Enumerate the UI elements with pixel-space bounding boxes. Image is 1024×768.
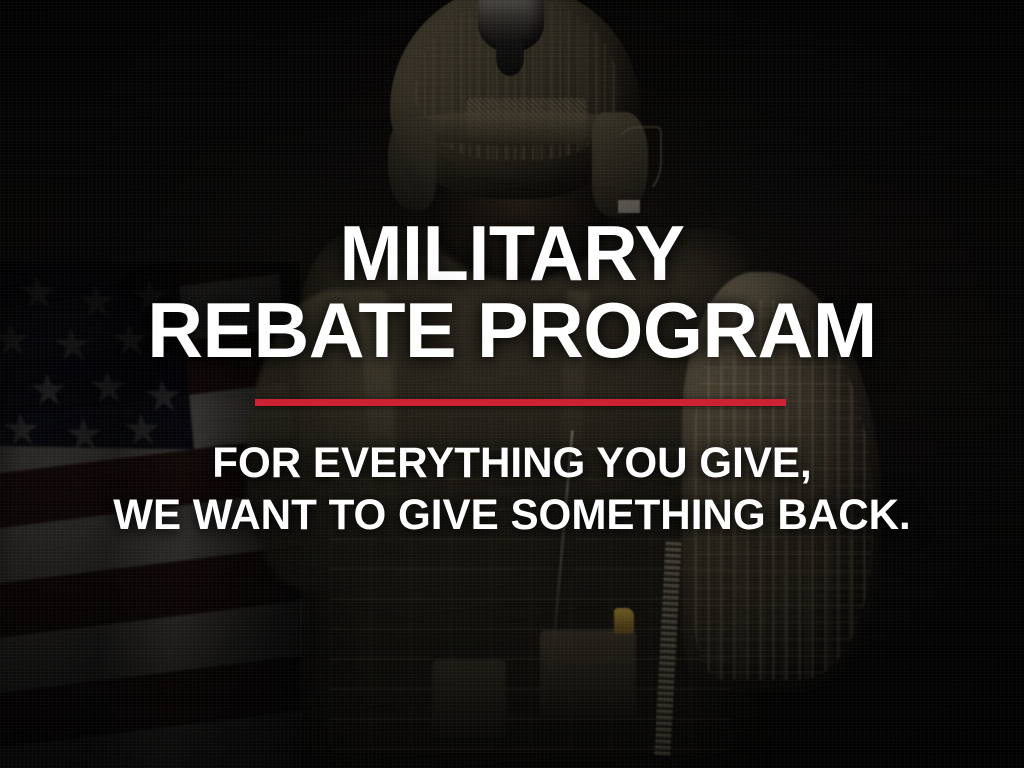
military-rebate-poster: MILITARY REBATE PROGRAM FOR EVERYTHING Y…	[0, 0, 1024, 768]
vest-accent-clip	[614, 608, 634, 634]
background-photo	[0, 0, 1024, 768]
helmet-cable	[612, 126, 662, 196]
helmet-id-tag	[618, 200, 640, 213]
vest-pouch-left	[432, 660, 506, 738]
helmet-ear-cup-left	[388, 118, 436, 210]
night-vision-arm	[496, 40, 524, 76]
